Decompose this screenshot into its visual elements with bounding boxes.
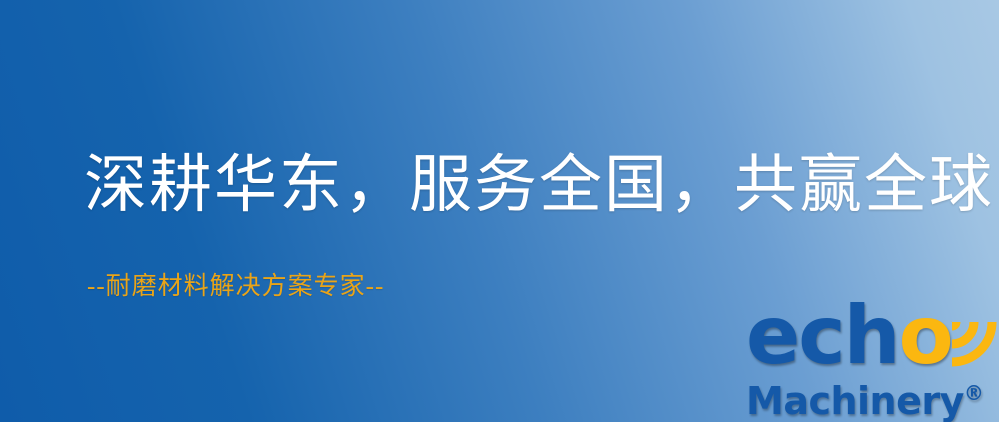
registered-trademark-icon: ®: [964, 381, 984, 405]
page-headline: 深耕华东，服务全国，共赢全球: [84, 152, 994, 218]
logo-wordmark-primary: ech: [746, 289, 899, 382]
page-subtitle: --耐磨材料解决方案专家--: [87, 266, 384, 302]
logo-wordmark: echo: [746, 296, 952, 376]
echo-machinery-logo: echo Machinery®: [742, 296, 994, 418]
logo-wordmark-accent: o: [899, 289, 952, 382]
logo-sub-text: Machinery: [746, 379, 964, 422]
hero-banner: 深耕华东，服务全国，共赢全球 --耐磨材料解决方案专家-- echo Machi…: [0, 0, 999, 422]
logo-sub-wordmark: Machinery®: [746, 373, 984, 421]
